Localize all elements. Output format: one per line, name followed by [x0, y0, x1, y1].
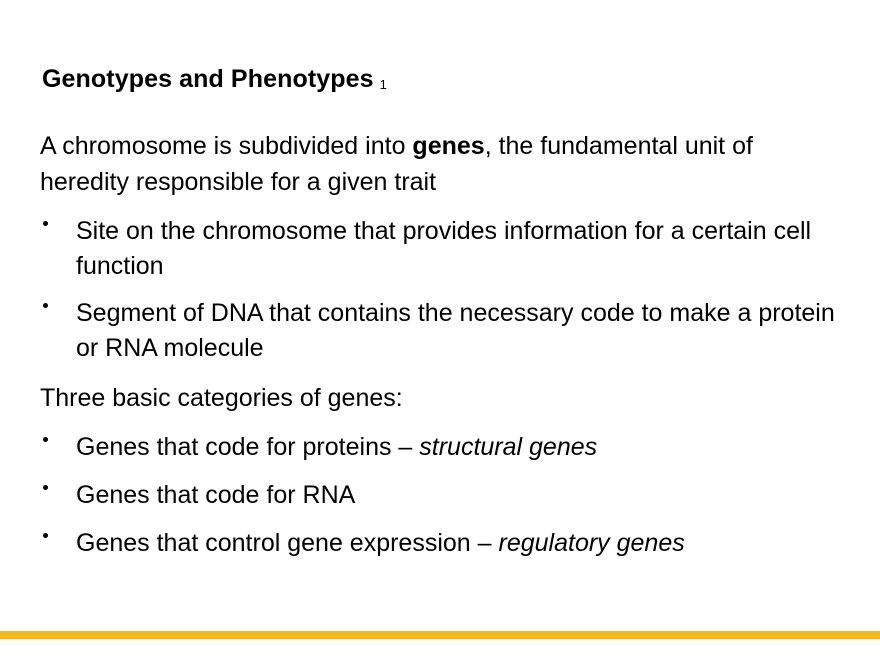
list-item: Genes that control gene expression – reg… [40, 526, 836, 561]
slide-body: A chromosome is subdivided into genes, t… [40, 128, 840, 574]
list-item: Genes that code for RNA [40, 478, 836, 513]
list-item: Site on the chromosome that provides inf… [40, 214, 836, 284]
list-item-text: Genes that code for RNA [76, 481, 355, 509]
page-title-text: Genotypes and Phenotypes [42, 65, 374, 93]
list-item: Segment of DNA that contains the necessa… [40, 296, 836, 366]
bullet-dot-icon [43, 485, 48, 490]
intro-paragraph: A chromosome is subdivided into genes, t… [40, 128, 800, 200]
category-bullet-list: Genes that code for proteins – structura… [40, 430, 840, 561]
slide-canvas: Genotypes and Phenotypes1 A chromosome i… [0, 0, 880, 660]
page-title: Genotypes and Phenotypes1 [42, 64, 387, 98]
list-item-text: Site on the chromosome that provides inf… [76, 217, 811, 280]
intro-paragraph-emphasis: genes [412, 132, 484, 160]
bottom-accent-bar [0, 631, 880, 639]
list-item: Genes that code for proteins – structura… [40, 430, 836, 465]
bullet-dot-icon [43, 221, 48, 226]
definition-bullet-list: Site on the chromosome that provides inf… [40, 214, 840, 366]
page-title-superscript: 1 [380, 77, 387, 92]
list-item-text: Segment of DNA that contains the necessa… [76, 299, 835, 362]
bullet-dot-icon [43, 437, 48, 442]
intro-paragraph-part1: A chromosome is subdivided into [40, 132, 412, 160]
categories-lead-text: Three basic categories of genes: [40, 380, 840, 416]
list-item-text: Genes that control gene expression – [76, 529, 499, 557]
bullet-dot-icon [43, 533, 48, 538]
list-item-italic-term: structural genes [419, 433, 597, 461]
list-item-text: Genes that code for proteins – [76, 433, 419, 461]
bullet-dot-icon [43, 303, 48, 308]
list-item-italic-term: regulatory genes [499, 529, 685, 557]
